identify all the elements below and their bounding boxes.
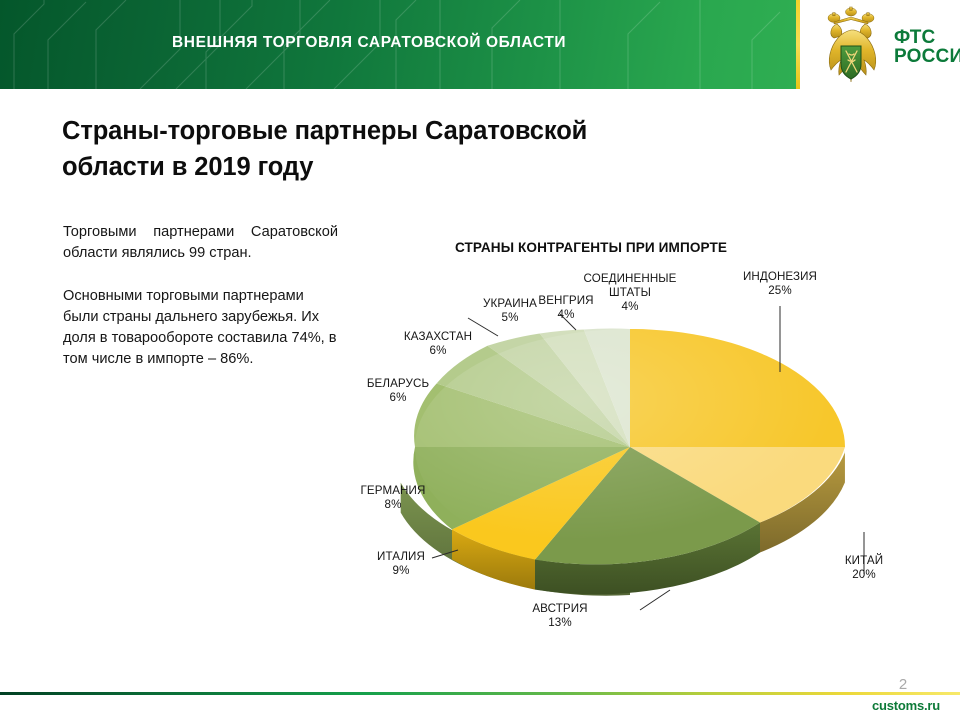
banner-gold-edge <box>796 0 800 89</box>
pie-label-soedinennye-shtaty: СОЕДИНЕННЫЕ ШТАТЫ 4% <box>568 272 692 314</box>
pie-label-kitay-pct: 20% <box>818 568 910 582</box>
pie-label-avstriya: АВСТРИЯ 13% <box>510 602 610 630</box>
pie-label-usa-pct: 4% <box>568 300 692 314</box>
pie-label-kazahstan-pct: 6% <box>386 344 490 358</box>
pie-label-italiya-name: ИТАЛИЯ <box>377 550 425 563</box>
pie-label-avstriya-pct: 13% <box>510 616 610 630</box>
pie-label-kitay: КИТАЙ 20% <box>818 554 910 582</box>
header-banner: ВНЕШНЯЯ ТОРГОВЛЯ САРАТОВСКОЙ ОБЛАСТИ <box>0 0 796 89</box>
banner-title: ВНЕШНЯЯ ТОРГОВЛЯ САРАТОВСКОЙ ОБЛАСТИ <box>172 34 566 52</box>
pie-label-usa-name1: СОЕДИНЕННЫЕ <box>583 272 676 285</box>
pie-label-kitay-name: КИТАЙ <box>845 554 883 567</box>
pie-label-germaniya-name: ГЕРМАНИЯ <box>361 484 426 497</box>
pie-label-germaniya-pct: 8% <box>345 498 441 512</box>
paragraph-1: Торговыми партнерами Саратовской области… <box>63 222 338 265</box>
pie-label-belarus-name: БЕЛАРУСЬ <box>367 377 429 390</box>
page-title: Страны-торговые партнеры Саратовской обл… <box>62 113 622 185</box>
pie-label-germaniya: ГЕРМАНИЯ 8% <box>345 484 441 512</box>
pie-label-usa-name2: ШТАТЫ <box>568 286 692 300</box>
pie-label-avstriya-name: АВСТРИЯ <box>532 602 587 615</box>
fts-logo: ФТС РОССИИ <box>812 6 960 86</box>
russian-coat-of-arms-eagle-icon <box>812 6 890 86</box>
pie-label-kazahstan-name: КАЗАХСТАН <box>404 330 472 343</box>
fts-logo-text: ФТС РОССИИ <box>894 28 960 67</box>
fts-logo-line1: ФТС <box>894 27 935 48</box>
pie-label-indoneziya: ИНДОНЕЗИЯ 25% <box>724 270 836 298</box>
pie-label-belarus: БЕЛАРУСЬ 6% <box>353 377 443 405</box>
pie-label-italiya-pct: 9% <box>364 564 438 578</box>
pie-chart: СТРАНЫ КОНТРАГЕНТЫ ПРИ ИМПОРТЕ <box>340 232 960 644</box>
paragraph-2: Основными торговыми партнерами были стра… <box>63 286 338 371</box>
pie-label-kazahstan: КАЗАХСТАН 6% <box>386 330 490 358</box>
fts-logo-line2: РОССИИ <box>894 47 960 66</box>
body-text-block: Торговыми партнерами Саратовской области… <box>63 222 338 371</box>
pie-label-indoneziya-name: ИНДОНЕЗИЯ <box>743 270 817 283</box>
footer-gradient-rule <box>0 692 960 695</box>
page-number: 2 <box>888 676 918 693</box>
pie-label-italiya: ИТАЛИЯ 9% <box>364 550 438 578</box>
pie-label-indoneziya-pct: 25% <box>724 284 836 298</box>
customs-site-label: customs.ru <box>858 698 954 713</box>
pie-label-belarus-pct: 6% <box>353 391 443 405</box>
